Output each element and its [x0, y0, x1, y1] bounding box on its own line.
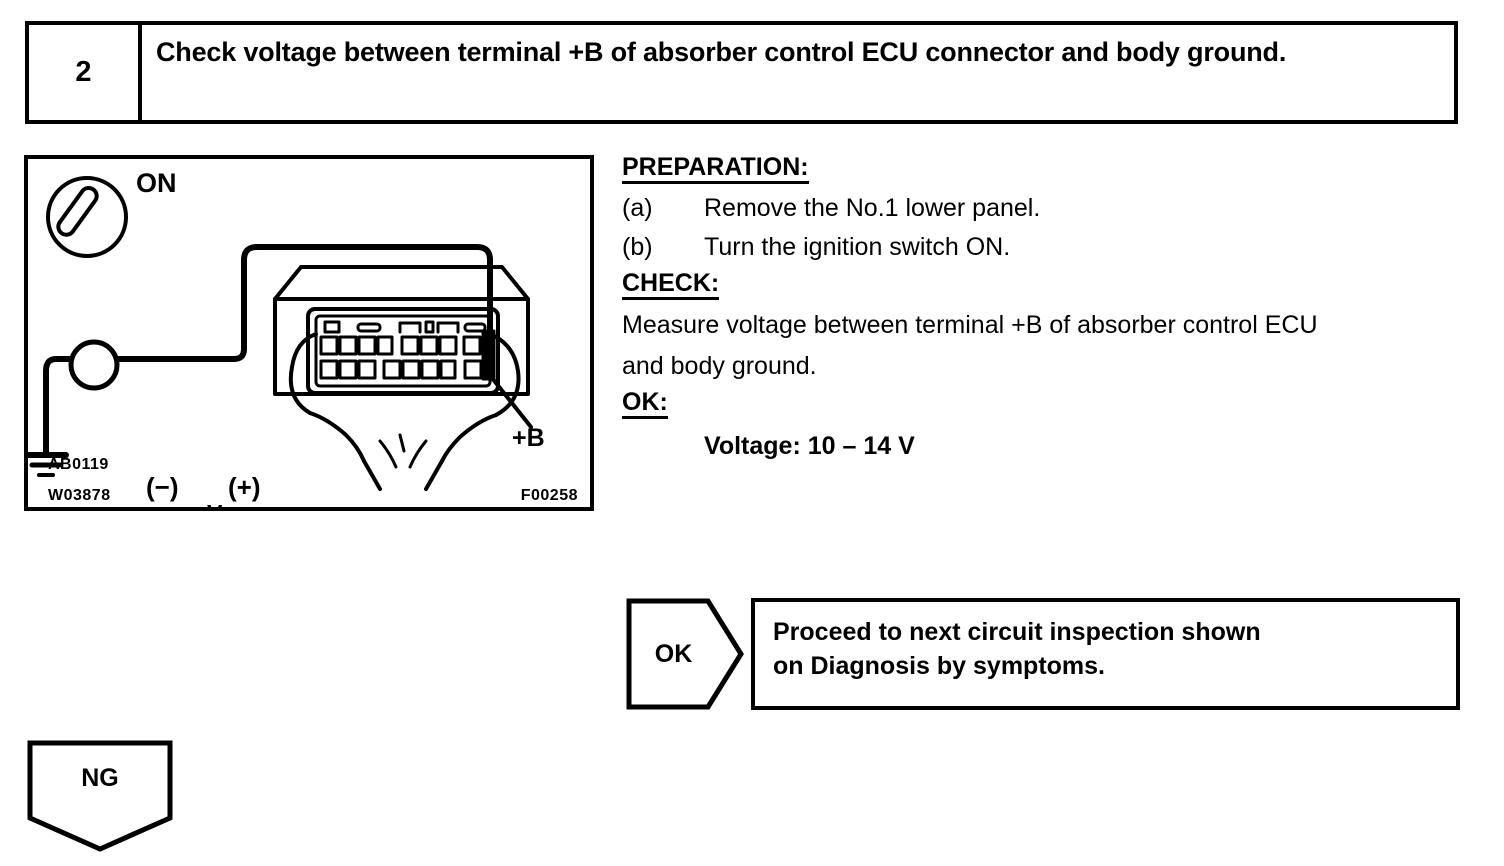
check-heading: CHECK:: [622, 270, 719, 300]
wiring-diagram-svg: [28, 159, 590, 507]
step-number-cell: 2: [29, 25, 142, 120]
result-ok-box: Proceed to next circuit inspection shown…: [751, 598, 1460, 710]
preparation-step-a-marker: (a): [622, 189, 704, 228]
preparation-step-b: (b)Turn the ignition switch ON.: [622, 228, 1492, 267]
illustration-panel: ON +B (−) (+) V AB0119 W03878 F00258: [24, 155, 594, 511]
terminal-plus-b-label: +B: [512, 424, 545, 453]
spacer: [622, 267, 1492, 270]
ignition-on-label: ON: [136, 168, 177, 199]
preparation-step-b-text: Turn the ignition switch ON.: [704, 233, 1010, 261]
preparation-step-a: (a)Remove the No.1 lower panel.: [622, 189, 1492, 228]
instructions-column: PREPARATION: (a)Remove the No.1 lower pa…: [622, 154, 1492, 463]
figure-code-f: F00258: [521, 487, 578, 505]
voltmeter-symbol-label: V: [207, 500, 222, 511]
check-text-line-1: Measure voltage between terminal +B of a…: [622, 305, 1492, 346]
result-ng-label: NG: [27, 764, 173, 793]
preparation-step-b-marker: (b): [622, 228, 704, 267]
step-title: Check voltage between terminal +B of abs…: [156, 36, 1440, 69]
result-ok-text-line-1: Proceed to next circuit inspection shown: [773, 616, 1456, 650]
ok-heading: OK:: [622, 389, 668, 419]
preparation-step-a-text: Remove the No.1 lower panel.: [704, 194, 1040, 222]
step-header-box: 2 Check voltage between terminal +B of a…: [25, 21, 1458, 124]
figure-code-w: W03878: [48, 487, 111, 505]
ng-pentagon-shape: [27, 740, 173, 852]
probe-positive-label: (+): [228, 472, 261, 503]
ok-voltage-value: Voltage: 10 – 14 V: [704, 430, 1492, 463]
preparation-heading: PREPARATION:: [622, 154, 809, 184]
result-ok-label: OK: [626, 598, 721, 710]
step-title-cell: Check voltage between terminal +B of abs…: [142, 25, 1454, 120]
step-number: 2: [75, 58, 91, 87]
figure-code-ab: AB0119: [48, 456, 109, 474]
spacer: [622, 386, 1492, 389]
result-ng-shape: NG: [27, 740, 173, 852]
result-ok-row: OK Proceed to next circuit inspection sh…: [626, 598, 1460, 710]
voltmeter-circle: [71, 342, 117, 388]
result-ok-text-line-2: on Diagnosis by symptoms.: [773, 650, 1456, 684]
probe-negative-label: (−): [146, 472, 179, 503]
check-text-line-2: and body ground.: [622, 346, 1492, 387]
